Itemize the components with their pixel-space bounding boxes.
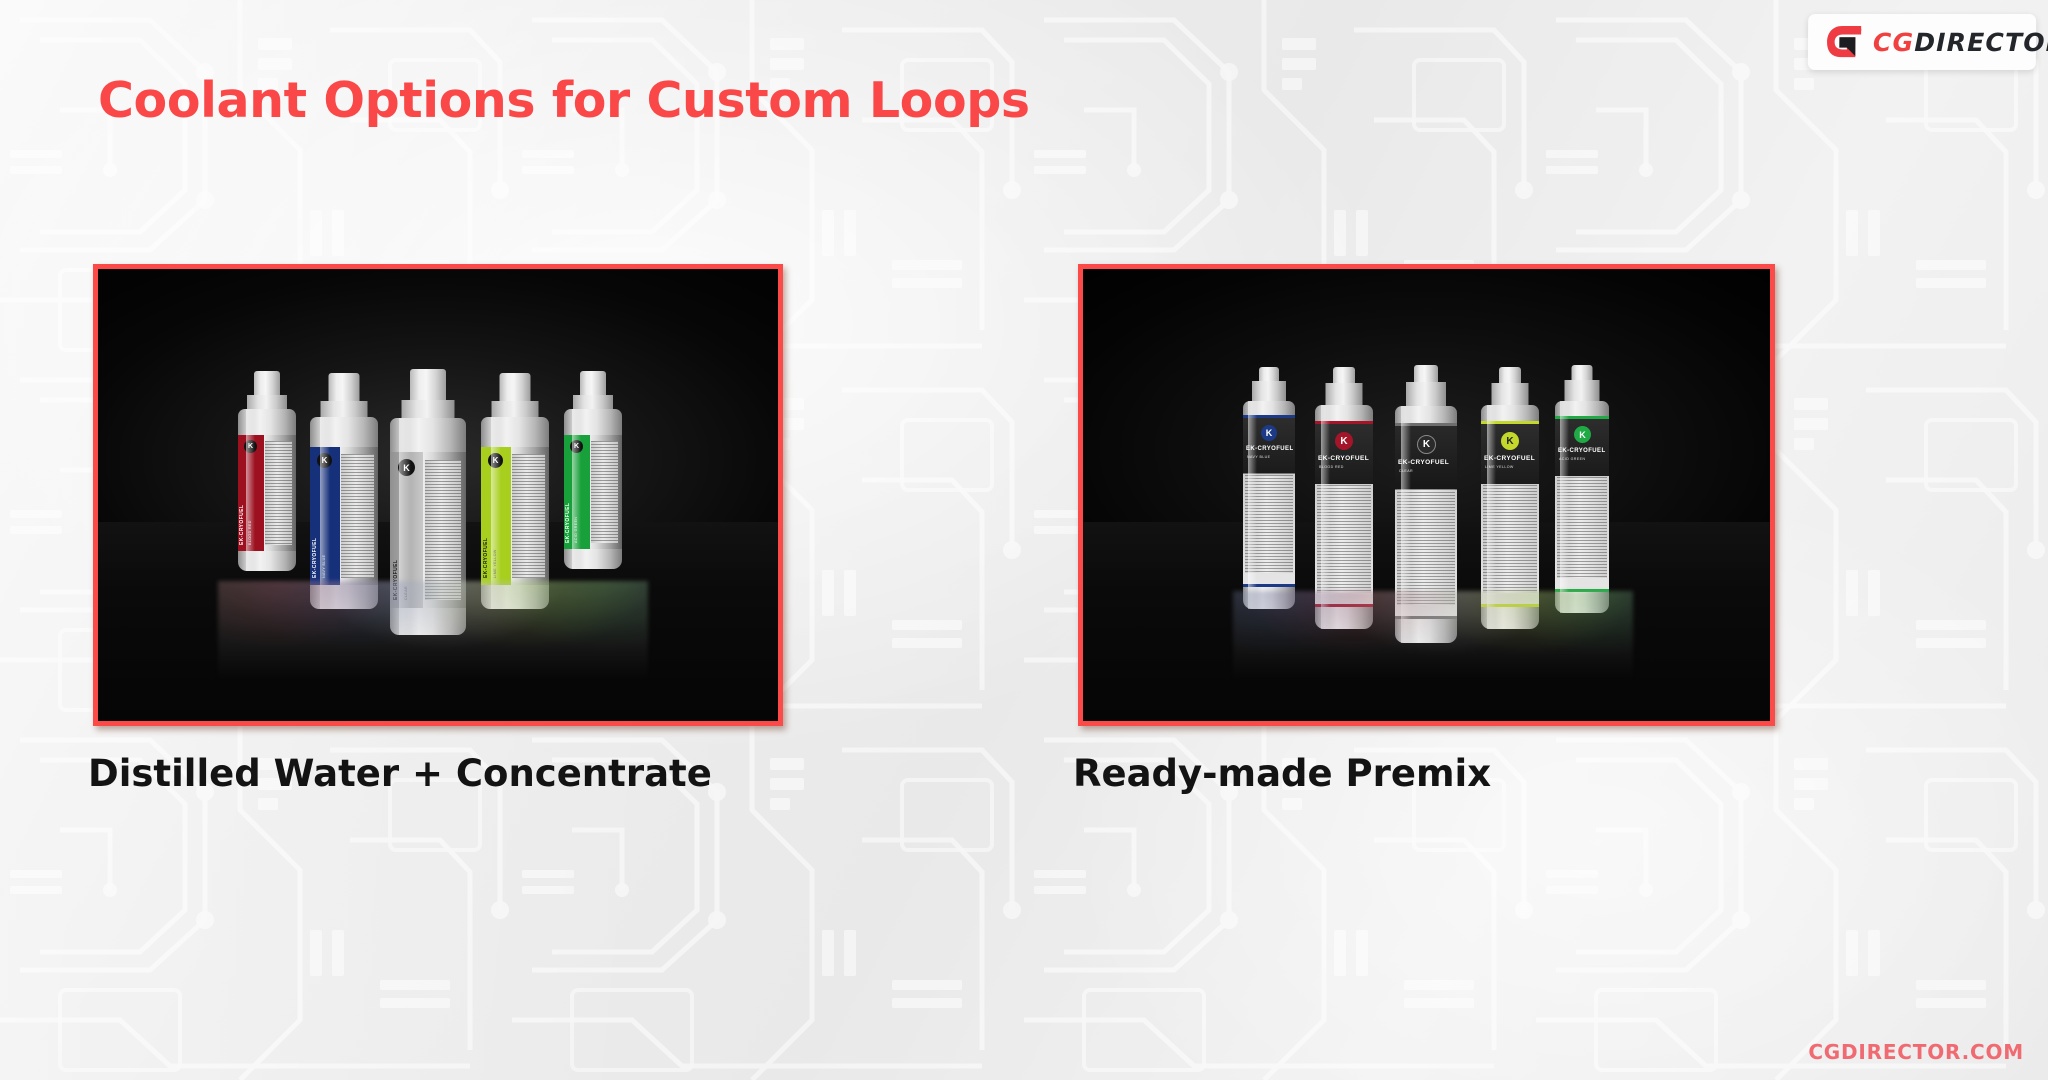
label-brand: EK-CRYOFUEL [1398,459,1449,466]
bottle-acid-green: K EK-CRYOFUEL ACID GREEN [564,371,622,569]
ek-logo-icon: K [570,440,583,453]
label-instructions [591,441,618,543]
label-variant: BLOOD RED [1319,465,1344,469]
label-instructions [512,454,545,578]
bottle-acid-green: K EK-CRYOFUEL ACID GREEN [1555,365,1609,613]
ek-cryofuel-concentrate-bottles-photo[interactable]: K EK-CRYOFUEL BLOOD RED K EK-CRYOFUEL NA… [93,264,783,726]
bottle-body: K EK-CRYOFUEL ACID GREEN [1555,401,1609,613]
bottle-cap-icon [254,371,280,397]
bottle-label: K EK-CRYOFUEL BLOOD RED [238,435,296,551]
bottle-body: K EK-CRYOFUEL ACID GREEN [564,409,622,569]
label-color-band [1555,416,1609,419]
label-color-band [1481,421,1539,424]
label-variant: LIME YELLOW [493,549,497,578]
bottle-blood-red: K EK-CRYOFUEL BLOOD RED [238,371,296,571]
ek-logo-icon: K [1335,432,1353,450]
bottle-label: K EK-CRYOFUEL CLEAR [1395,423,1457,619]
label-variant: LIME YELLOW [1485,465,1514,469]
label-brand: EK-CRYOFUEL [1558,448,1606,454]
label-variant: ACID GREEN [574,517,578,543]
label-instructions [1245,475,1293,573]
bottle-blood-red: K EK-CRYOFUEL BLOOD RED [1315,367,1373,629]
logo-text-director: DIRECTOR [1914,28,2048,57]
label-bottom-band [1243,584,1295,587]
logo-wordmark: CGDIRECTOR [1873,28,2048,57]
ek-logo-icon: K [488,453,503,468]
bottle-label: K EK-CRYOFUEL LIME YELLOW [1481,421,1539,607]
label-brand: EK-CRYOFUEL [483,538,489,578]
label-variant: BLOOD RED [248,520,252,545]
label-brand: EK-CRYOFUEL [1246,446,1294,452]
bottle-lime-yellow: K EK-CRYOFUEL LIME YELLOW [1481,367,1539,629]
label-instructions [1397,489,1455,605]
ek-logo-icon: K [1261,425,1277,441]
cgdirector-logo[interactable]: CGDIRECTOR [1808,14,2036,70]
bottle-neck [1406,382,1446,408]
bottle-lime-yellow: K EK-CRYOFUEL LIME YELLOW [481,373,549,609]
label-color-band [1395,423,1457,426]
label-instructions [341,454,374,578]
photo-reflection [218,581,648,721]
label-variant: CLEAR [1399,469,1413,473]
bottle-label: K EK-CRYOFUEL ACID GREEN [564,435,622,549]
caption-concentrate: Distilled Water + Concentrate [88,752,712,795]
label-brand: EK-CRYOFUEL [1318,455,1369,462]
bottle-neck [1326,383,1363,407]
bottle-body: K EK-CRYOFUEL NAVY BLUE [1243,401,1295,609]
cgdirector-logo-mark [1826,25,1864,59]
site-watermark: CGDIRECTOR.COM [1808,1040,2024,1064]
ek-cryofuel-premix-bottles-photo[interactable]: K EK-CRYOFUEL NAVY BLUE K EK-CRYOFUEL BL… [1078,264,1775,726]
label-instructions [1317,485,1371,593]
label-variant: ACID GREEN [1559,457,1585,461]
ek-logo-icon: K [1501,432,1519,450]
label-instructions [265,441,292,545]
label-color-band [1243,415,1295,418]
label-brand: EK-CRYOFUEL [565,503,571,543]
bottle-label: K EK-CRYOFUEL BLOOD RED [1315,421,1373,607]
bottle-body: K EK-CRYOFUEL BLOOD RED [238,409,296,571]
label-brand: EK-CRYOFUEL [239,505,245,545]
logo-text-cg: CG [1873,28,1914,57]
label-variant: NAVY BLUE [1247,455,1270,459]
label-variant: NAVY BLUE [322,555,326,578]
label-brand: EK-CRYOFUEL [312,538,318,578]
label-instructions [425,460,461,600]
bottle-neck [1565,380,1600,403]
bottle-neck [1252,381,1286,403]
label-brand: EK-CRYOFUEL [1484,455,1535,462]
bottle-cap-icon [329,373,360,403]
bottle-label: K EK-CRYOFUEL NAVY BLUE [1243,415,1295,587]
ek-logo-icon: K [244,440,257,453]
bottle-cap-icon [500,373,531,403]
bottle-label: K EK-CRYOFUEL LIME YELLOW [481,447,549,585]
bottle-label: K EK-CRYOFUEL NAVY BLUE [310,447,378,585]
panel-concentrate: K EK-CRYOFUEL BLOOD RED K EK-CRYOFUEL NA… [93,264,793,764]
bottle-navy-blue: K EK-CRYOFUEL NAVY BLUE [1243,367,1295,609]
label-color-band [1315,421,1373,424]
bottle-label: K EK-CRYOFUEL ACID GREEN [1555,416,1609,592]
ek-logo-icon: K [1574,426,1591,443]
ek-logo-icon: K [398,459,415,476]
caption-premix: Ready-made Premix [1073,752,1491,795]
ek-logo-icon: K [317,453,332,468]
bottle-cap-icon [580,371,606,397]
bottle-neck [402,400,455,420]
panel-premix: K EK-CRYOFUEL NAVY BLUE K EK-CRYOFUEL BL… [1078,264,1778,764]
bottle-neck [1492,383,1529,407]
page-title: Coolant Options for Custom Loops [98,72,1030,129]
bottle-navy-blue: K EK-CRYOFUEL NAVY BLUE [310,373,378,609]
label-instructions [1557,477,1607,578]
bottle-cap-icon [410,369,446,402]
photo-reflection [1233,591,1633,721]
ek-logo-icon: K [1417,435,1436,454]
label-instructions [1483,485,1537,593]
